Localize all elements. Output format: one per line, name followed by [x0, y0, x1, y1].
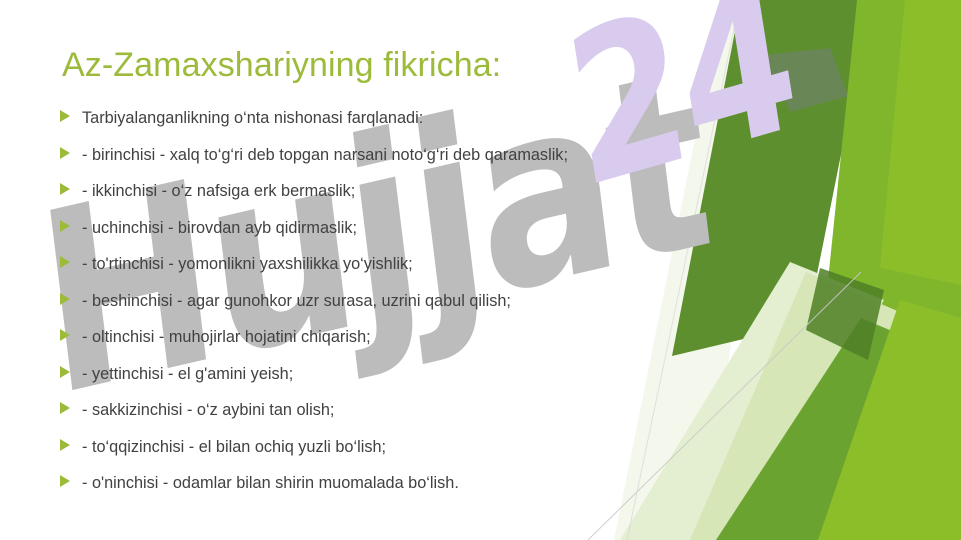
- list-item: - birinchisi - xalq to‘g‘ri deb topgan n…: [60, 143, 760, 180]
- list-item: - beshinchisi - agar gunohkor uzr surasa…: [60, 289, 760, 326]
- bullet-list: Tarbiyalanganlikning o‘nta nishonasi far…: [60, 106, 760, 508]
- list-item-label: - beshinchisi - agar gunohkor uzr surasa…: [82, 289, 511, 312]
- triangle-right-icon: [60, 289, 82, 305]
- list-item: - to‘qqizinchisi - el bilan ochiq yuzli …: [60, 435, 760, 472]
- slide-content: Az-Zamaxshariyning fikricha: Tarbiyalang…: [0, 0, 961, 540]
- triangle-right-icon: [60, 398, 82, 414]
- triangle-right-icon: [60, 362, 82, 378]
- list-item: - o'ninchisi - odamlar bilan shirin muom…: [60, 471, 760, 508]
- list-item-label: - ikkinchisi - o‘z nafsiga erk bermaslik…: [82, 179, 355, 202]
- list-item: - uchinchisi - birovdan ayb qidirmaslik;: [60, 216, 760, 253]
- triangle-right-icon: [60, 325, 82, 341]
- list-item-label: - to‘qqizinchisi - el bilan ochiq yuzli …: [82, 435, 386, 458]
- triangle-right-icon: [60, 252, 82, 268]
- triangle-right-icon: [60, 471, 82, 487]
- list-item: Tarbiyalanganlikning o‘nta nishonasi far…: [60, 106, 760, 143]
- list-item-label: Tarbiyalanganlikning o‘nta nishonasi far…: [82, 106, 423, 129]
- list-item: - oltinchisi - muhojirlar hojatini chiqa…: [60, 325, 760, 362]
- slide-title: Az-Zamaxshariyning fikricha:: [62, 46, 501, 85]
- list-item: - yettinchisi - el g'amini yeish;: [60, 362, 760, 399]
- list-item-label: - uchinchisi - birovdan ayb qidirmaslik;: [82, 216, 357, 239]
- triangle-right-icon: [60, 179, 82, 195]
- list-item-label: - yettinchisi - el g'amini yeish;: [82, 362, 293, 385]
- list-item: - sakkizinchisi - o‘z aybini tan olish;: [60, 398, 760, 435]
- triangle-right-icon: [60, 216, 82, 232]
- list-item-label: - birinchisi - xalq to‘g‘ri deb topgan n…: [82, 143, 568, 166]
- list-item-label: - to'rtinchisi - yomonlikni yaxshilikka …: [82, 252, 413, 275]
- slide: Hujjat 24 Az-Zamaxshariyning fikricha: T…: [0, 0, 961, 540]
- list-item: - to'rtinchisi - yomonlikni yaxshilikka …: [60, 252, 760, 289]
- list-item-label: - oltinchisi - muhojirlar hojatini chiqa…: [82, 325, 371, 348]
- triangle-right-icon: [60, 106, 82, 122]
- list-item-label: - o'ninchisi - odamlar bilan shirin muom…: [82, 471, 459, 494]
- triangle-right-icon: [60, 143, 82, 159]
- list-item-label: - sakkizinchisi - o‘z aybini tan olish;: [82, 398, 334, 421]
- list-item: - ikkinchisi - o‘z nafsiga erk bermaslik…: [60, 179, 760, 216]
- triangle-right-icon: [60, 435, 82, 451]
